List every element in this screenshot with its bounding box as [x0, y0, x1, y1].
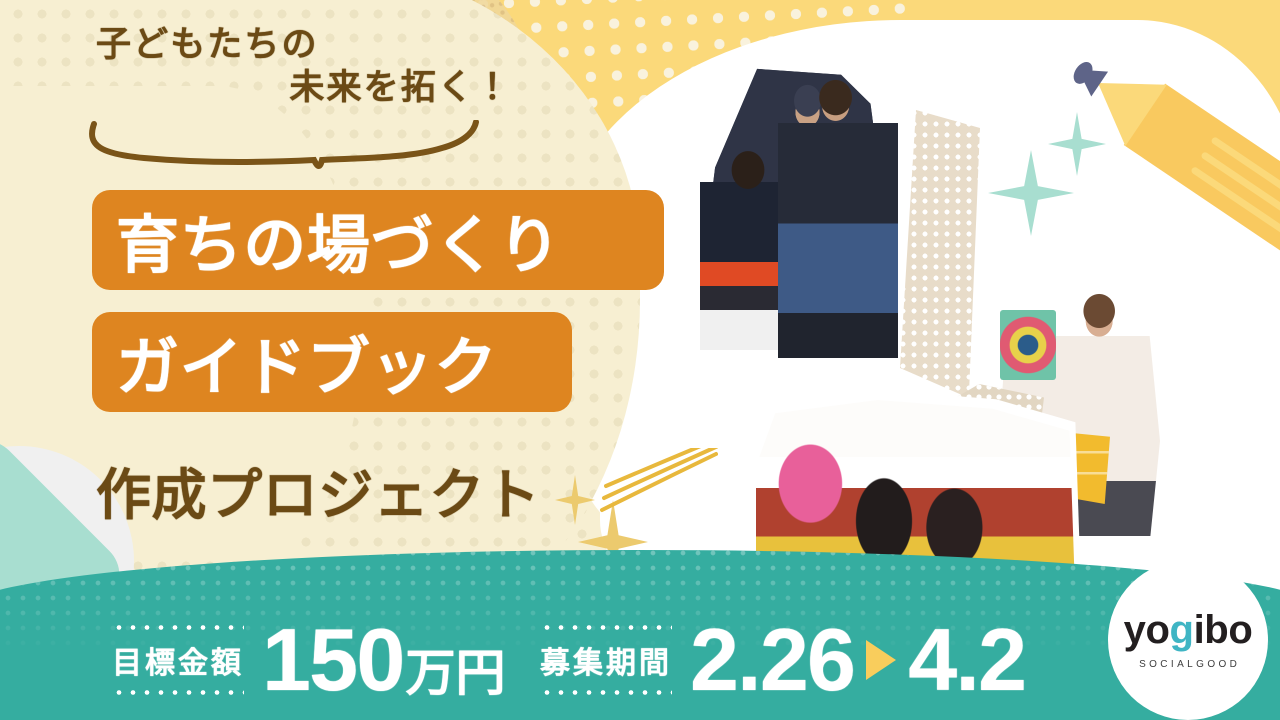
title-line-2: ガイドブック [116, 317, 498, 408]
goal-unit: 万円 [406, 650, 506, 698]
goal-amount: 150 [262, 618, 404, 702]
yogibo-logo: yogibo SOCIALGOOD [1108, 560, 1268, 720]
logo-name-before: yo [1124, 608, 1170, 652]
logo-tagline: SOCIALGOOD [1136, 659, 1241, 670]
title-line-1-box: 育ちの場づくり [92, 190, 664, 290]
period-label: 募集期間 [540, 638, 672, 682]
period-end: 4.2 [908, 618, 1025, 702]
dotted-rule-top [540, 625, 672, 630]
period-value: 2.26 4.2 [690, 618, 1025, 702]
goal-amount-block: 目標金額 150 万円 [112, 618, 506, 702]
arrow-right-icon [866, 640, 896, 680]
adult-figure [778, 78, 898, 358]
presented-card [1000, 310, 1056, 380]
goal-label-wrap: 目標金額 [112, 625, 244, 695]
dotted-rule-bottom [112, 690, 244, 695]
tagline-line-2: 未来を拓く！ [96, 67, 516, 110]
goal-value: 150 万円 [262, 618, 506, 702]
logo-wordmark: yogibo [1124, 610, 1253, 650]
logo-name-after: ibo [1194, 608, 1253, 652]
period-block: 募集期間 2.26 4.2 [540, 618, 1025, 702]
logo-name-g: g [1170, 608, 1194, 652]
title-line-2-box: ガイドブック [92, 312, 572, 412]
dotted-rule-top [112, 625, 244, 630]
tagline-line-1: 子どもたちの [96, 25, 319, 64]
tagline: 子どもたちの 未来を拓く！ [96, 24, 516, 109]
goal-label: 目標金額 [112, 638, 244, 682]
period-start: 2.26 [690, 618, 854, 702]
ribbon-underline [60, 120, 490, 200]
dotted-rule-bottom [540, 690, 672, 695]
poster-canvas: 子どもたちの 未来を拓く！ 育ちの場づくり ガイドブック 作成プロジェクト 目標… [0, 0, 1280, 720]
period-label-wrap: 募集期間 [540, 625, 672, 695]
title-line-3: 作成プロジェクト [96, 450, 656, 530]
title-line-1: 育ちの場づくり [116, 195, 561, 286]
